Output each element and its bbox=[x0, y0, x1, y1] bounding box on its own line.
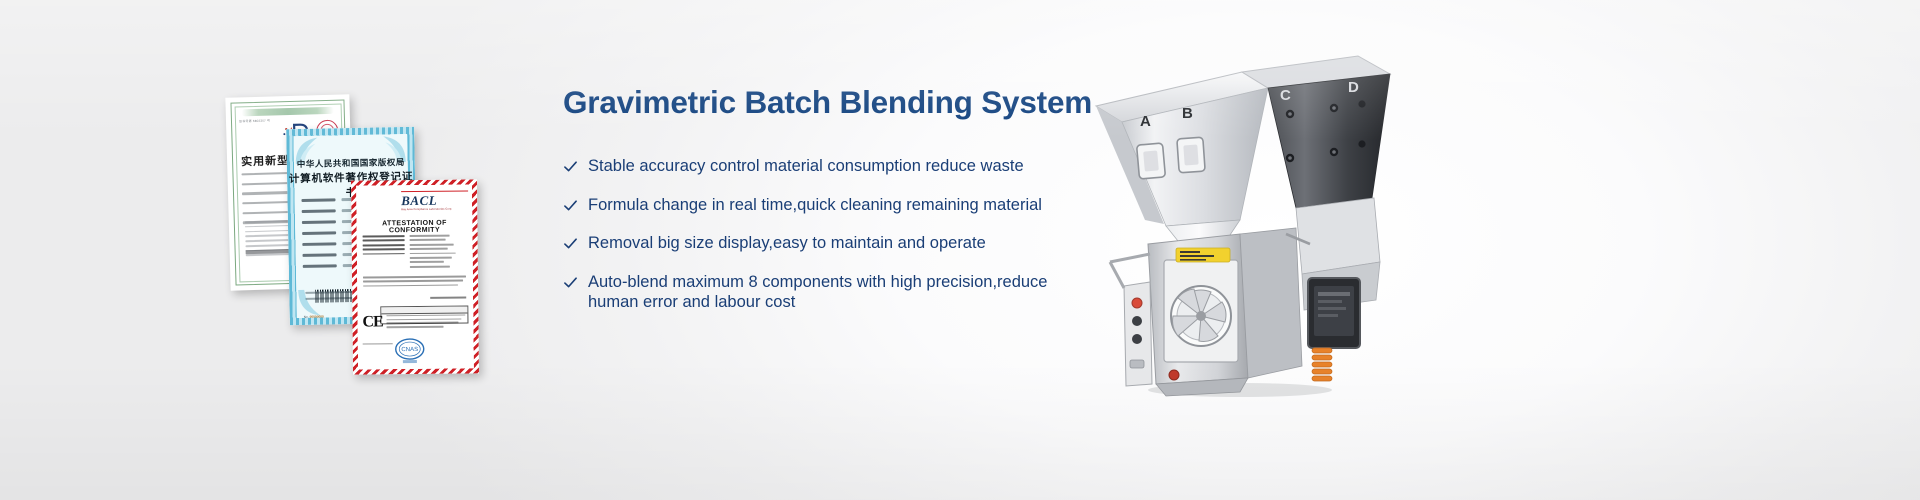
list-item: Removal big size display,easy to maintai… bbox=[563, 233, 1083, 254]
blender-illustration: A B C D bbox=[1090, 48, 1400, 398]
ce-mark-icon: CE bbox=[362, 314, 382, 330]
list-item-label: Removal big size display,easy to maintai… bbox=[588, 233, 1083, 254]
svg-text:CNAS: CNAS bbox=[401, 347, 418, 353]
list-item: Stable accuracy control material consump… bbox=[563, 156, 1083, 177]
bacl-wordmark: BACL bbox=[401, 193, 465, 207]
list-item-label: Auto-blend maximum 8 components with hig… bbox=[588, 272, 1083, 293]
serial-value: 00000000 bbox=[310, 315, 324, 319]
certificate-bacl-attestation: BACL Bay Area Compliance Laboratories Co… bbox=[351, 179, 479, 374]
check-icon bbox=[563, 159, 578, 174]
bacl-logo: BACL Bay Area Compliance Laboratories Co… bbox=[401, 193, 465, 212]
check-icon bbox=[563, 236, 578, 251]
list-item-label-line2: human error and labour cost bbox=[588, 292, 1083, 313]
product-banner: 证书号第 6802357 号 实用新型专利证书 bbox=[0, 0, 1920, 500]
hopper-label-a: A bbox=[1140, 113, 1151, 130]
list-item-label: Formula change in real time,quick cleani… bbox=[588, 195, 1083, 216]
hopper-label-d: D bbox=[1348, 79, 1359, 96]
certificate-serial: No. 00000000 bbox=[304, 315, 324, 319]
signature-line bbox=[363, 343, 393, 345]
certificate-title: ATTESTATION OF CONFORMITY bbox=[360, 219, 468, 234]
product-image-gravimetric-blender: A B C D bbox=[1090, 48, 1400, 398]
serial-label: No. bbox=[304, 315, 309, 319]
check-icon bbox=[563, 198, 578, 213]
certificate-fields bbox=[363, 234, 468, 270]
list-item-label: Stable accuracy control material consump… bbox=[588, 156, 1083, 177]
hopper-label-c: C bbox=[1280, 87, 1291, 104]
directive-note bbox=[430, 296, 466, 298]
page-title: Gravimetric Batch Blending System bbox=[563, 82, 1083, 122]
certificates-group: 证书号第 6802357 号 实用新型专利证书 bbox=[200, 80, 530, 400]
check-icon bbox=[563, 275, 578, 290]
feature-list: Stable accuracy control material consump… bbox=[563, 156, 1083, 313]
certificate-code: 证书号第 6802357 号 bbox=[239, 119, 270, 124]
bacl-tagline: Bay Area Compliance Laboratories Corp. bbox=[401, 207, 465, 211]
certificate-issuer: 中华人民共和国国家版权局 bbox=[287, 156, 415, 170]
list-item: Formula change in real time,quick cleani… bbox=[563, 195, 1083, 216]
hopper-label-b: B bbox=[1182, 105, 1193, 122]
copy-block: Gravimetric Batch Blending System Stable… bbox=[563, 82, 1083, 313]
accreditation-seal-icon: CNAS bbox=[393, 336, 427, 366]
list-item: Auto-blend maximum 8 components with hig… bbox=[563, 272, 1083, 313]
certificate-paragraph bbox=[363, 275, 468, 289]
certificate-footnote bbox=[386, 314, 468, 330]
